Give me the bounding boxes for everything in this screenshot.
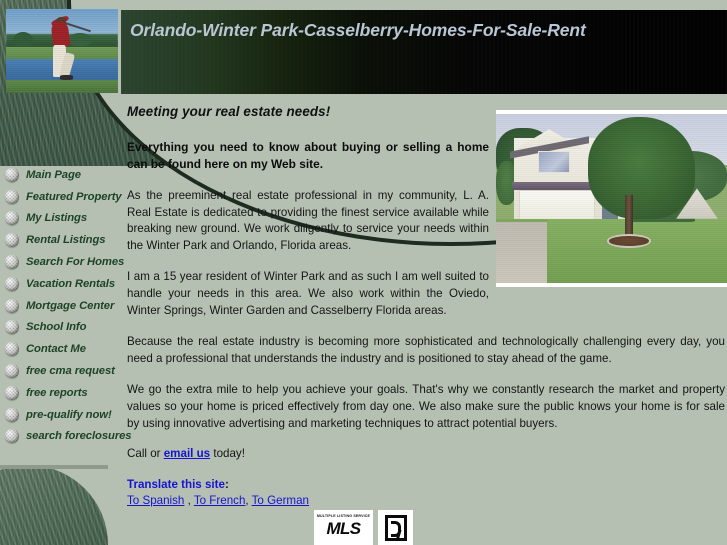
- content-paragraph-3: Because the real estate industry is beco…: [127, 334, 725, 367]
- golfer-tree-right: [68, 33, 93, 46]
- golf-ball-bullet-icon: [5, 277, 19, 291]
- sidebar-item-rental-listings[interactable]: Rental Listings: [0, 229, 122, 251]
- sidebar-nav: Main Page Featured Property My Listings …: [0, 164, 122, 447]
- golf-ball-bullet-icon: [5, 342, 19, 356]
- golfer-near-bank: [6, 80, 118, 93]
- sidebar-item-main-page[interactable]: Main Page: [0, 164, 122, 186]
- content-paragraph-4: We go the extra mile to help you achieve…: [127, 382, 725, 432]
- translate-links-row: To Spanish , To French, To German: [127, 494, 725, 507]
- sidebar-item-label: Rental Listings: [26, 234, 105, 246]
- footer-grass-arc-edge: [0, 465, 108, 469]
- content-paragraph-1: As the preeminent real estate profession…: [127, 188, 489, 254]
- mls-wordmark: MLS: [326, 519, 360, 538]
- sidebar-item-label: My Listings: [26, 212, 87, 224]
- house-front-lawn: [547, 219, 727, 283]
- sidebar-item-school-info[interactable]: School Info: [0, 317, 122, 339]
- sidebar-item-label: School Info: [26, 321, 86, 333]
- house-tree-trunk: [625, 195, 633, 239]
- sidebar-item-contact-me[interactable]: Contact Me: [0, 338, 122, 360]
- golf-ball-bullet-icon: [5, 190, 19, 204]
- content-paragraph-2: I am a 15 year resident of Winter Park a…: [127, 269, 489, 319]
- golf-ball-bullet-icon: [5, 386, 19, 400]
- sidebar-item-featured-property[interactable]: Featured Property: [0, 186, 122, 208]
- featured-house-photo: [496, 110, 727, 287]
- golf-ball-bullet-icon: [5, 233, 19, 247]
- call-to-action-line: Call or email us today!: [127, 447, 725, 460]
- sidebar-item-label: Main Page: [26, 169, 81, 181]
- sidebar-item-label: pre-qualify now!: [26, 409, 112, 421]
- sidebar-item-pre-qualify-now[interactable]: pre-qualify now!: [0, 404, 122, 426]
- sidebar-item-label: free reports: [26, 387, 88, 399]
- mls-logo: MULTIPLE LISTING SERVICE MLS: [314, 510, 373, 545]
- sidebar-item-label: Search For Homes: [26, 256, 124, 268]
- footer-logos: MULTIPLE LISTING SERVICE MLS: [0, 510, 727, 545]
- realtor-r-icon: [385, 515, 407, 541]
- golf-ball-bullet-icon: [5, 320, 19, 334]
- translate-heading-colon: :: [225, 478, 229, 491]
- email-us-link[interactable]: email us: [164, 447, 210, 460]
- house-foreground-tree: [588, 117, 694, 218]
- golf-ball-bullet-icon: [5, 211, 19, 225]
- golf-ball-bullet-icon: [5, 255, 19, 269]
- sidebar-item-search-foreclosures[interactable]: search foreclosures: [0, 426, 122, 448]
- sidebar-item-mortgage-center[interactable]: Mortgage Center: [0, 295, 122, 317]
- sidebar-item-label: free cma request: [26, 365, 115, 377]
- sidebar-item-label: Featured Property: [26, 191, 122, 203]
- golf-ball-bullet-icon: [5, 299, 19, 313]
- sidebar-item-label: Mortgage Center: [26, 300, 114, 312]
- page-title: Orlando-Winter Park-Casselberry-Homes-Fo…: [130, 16, 600, 44]
- sidebar-item-search-for-homes[interactable]: Search For Homes: [0, 251, 122, 273]
- sidebar-item-free-cma-request[interactable]: free cma request: [0, 360, 122, 382]
- realtor-logo: [378, 510, 413, 545]
- sidebar-item-vacation-rentals[interactable]: Vacation Rentals: [0, 273, 122, 295]
- sidebar-item-label: search foreclosures: [26, 430, 131, 442]
- sidebar-item-label: Contact Me: [26, 343, 86, 355]
- translate-heading-text: Translate this site: [127, 478, 225, 491]
- page-root: Orlando-Winter Park-Casselberry-Homes-Fo…: [0, 0, 727, 545]
- sidebar-item-free-reports[interactable]: free reports: [0, 382, 122, 404]
- content-lead-paragraph: Everything you need to know about buying…: [127, 139, 489, 172]
- golfer-tree-left: [13, 32, 33, 47]
- golfer-shoe: [60, 75, 73, 79]
- golf-ball-bullet-icon: [5, 408, 19, 422]
- golf-ball-bullet-icon: [5, 168, 19, 182]
- sidebar-item-my-listings[interactable]: My Listings: [0, 208, 122, 230]
- translate-separator-1: ,: [184, 494, 193, 507]
- translate-link-german[interactable]: To German: [252, 494, 309, 507]
- translate-link-french[interactable]: To French: [194, 494, 246, 507]
- translate-link-spanish[interactable]: To Spanish: [127, 494, 184, 507]
- house-upper-window: [538, 151, 570, 173]
- call-suffix-text: today!: [210, 447, 245, 460]
- translate-heading: Translate this site:: [127, 478, 725, 491]
- call-prefix-text: Call or: [127, 447, 164, 460]
- golf-ball-bullet-icon: [5, 364, 19, 378]
- house-image: [496, 114, 727, 283]
- sidebar-item-label: Vacation Rentals: [26, 278, 115, 290]
- house-tree-mulch-ring: [607, 234, 651, 248]
- golfer-photo: [6, 9, 118, 93]
- golf-ball-bullet-icon: [5, 429, 19, 443]
